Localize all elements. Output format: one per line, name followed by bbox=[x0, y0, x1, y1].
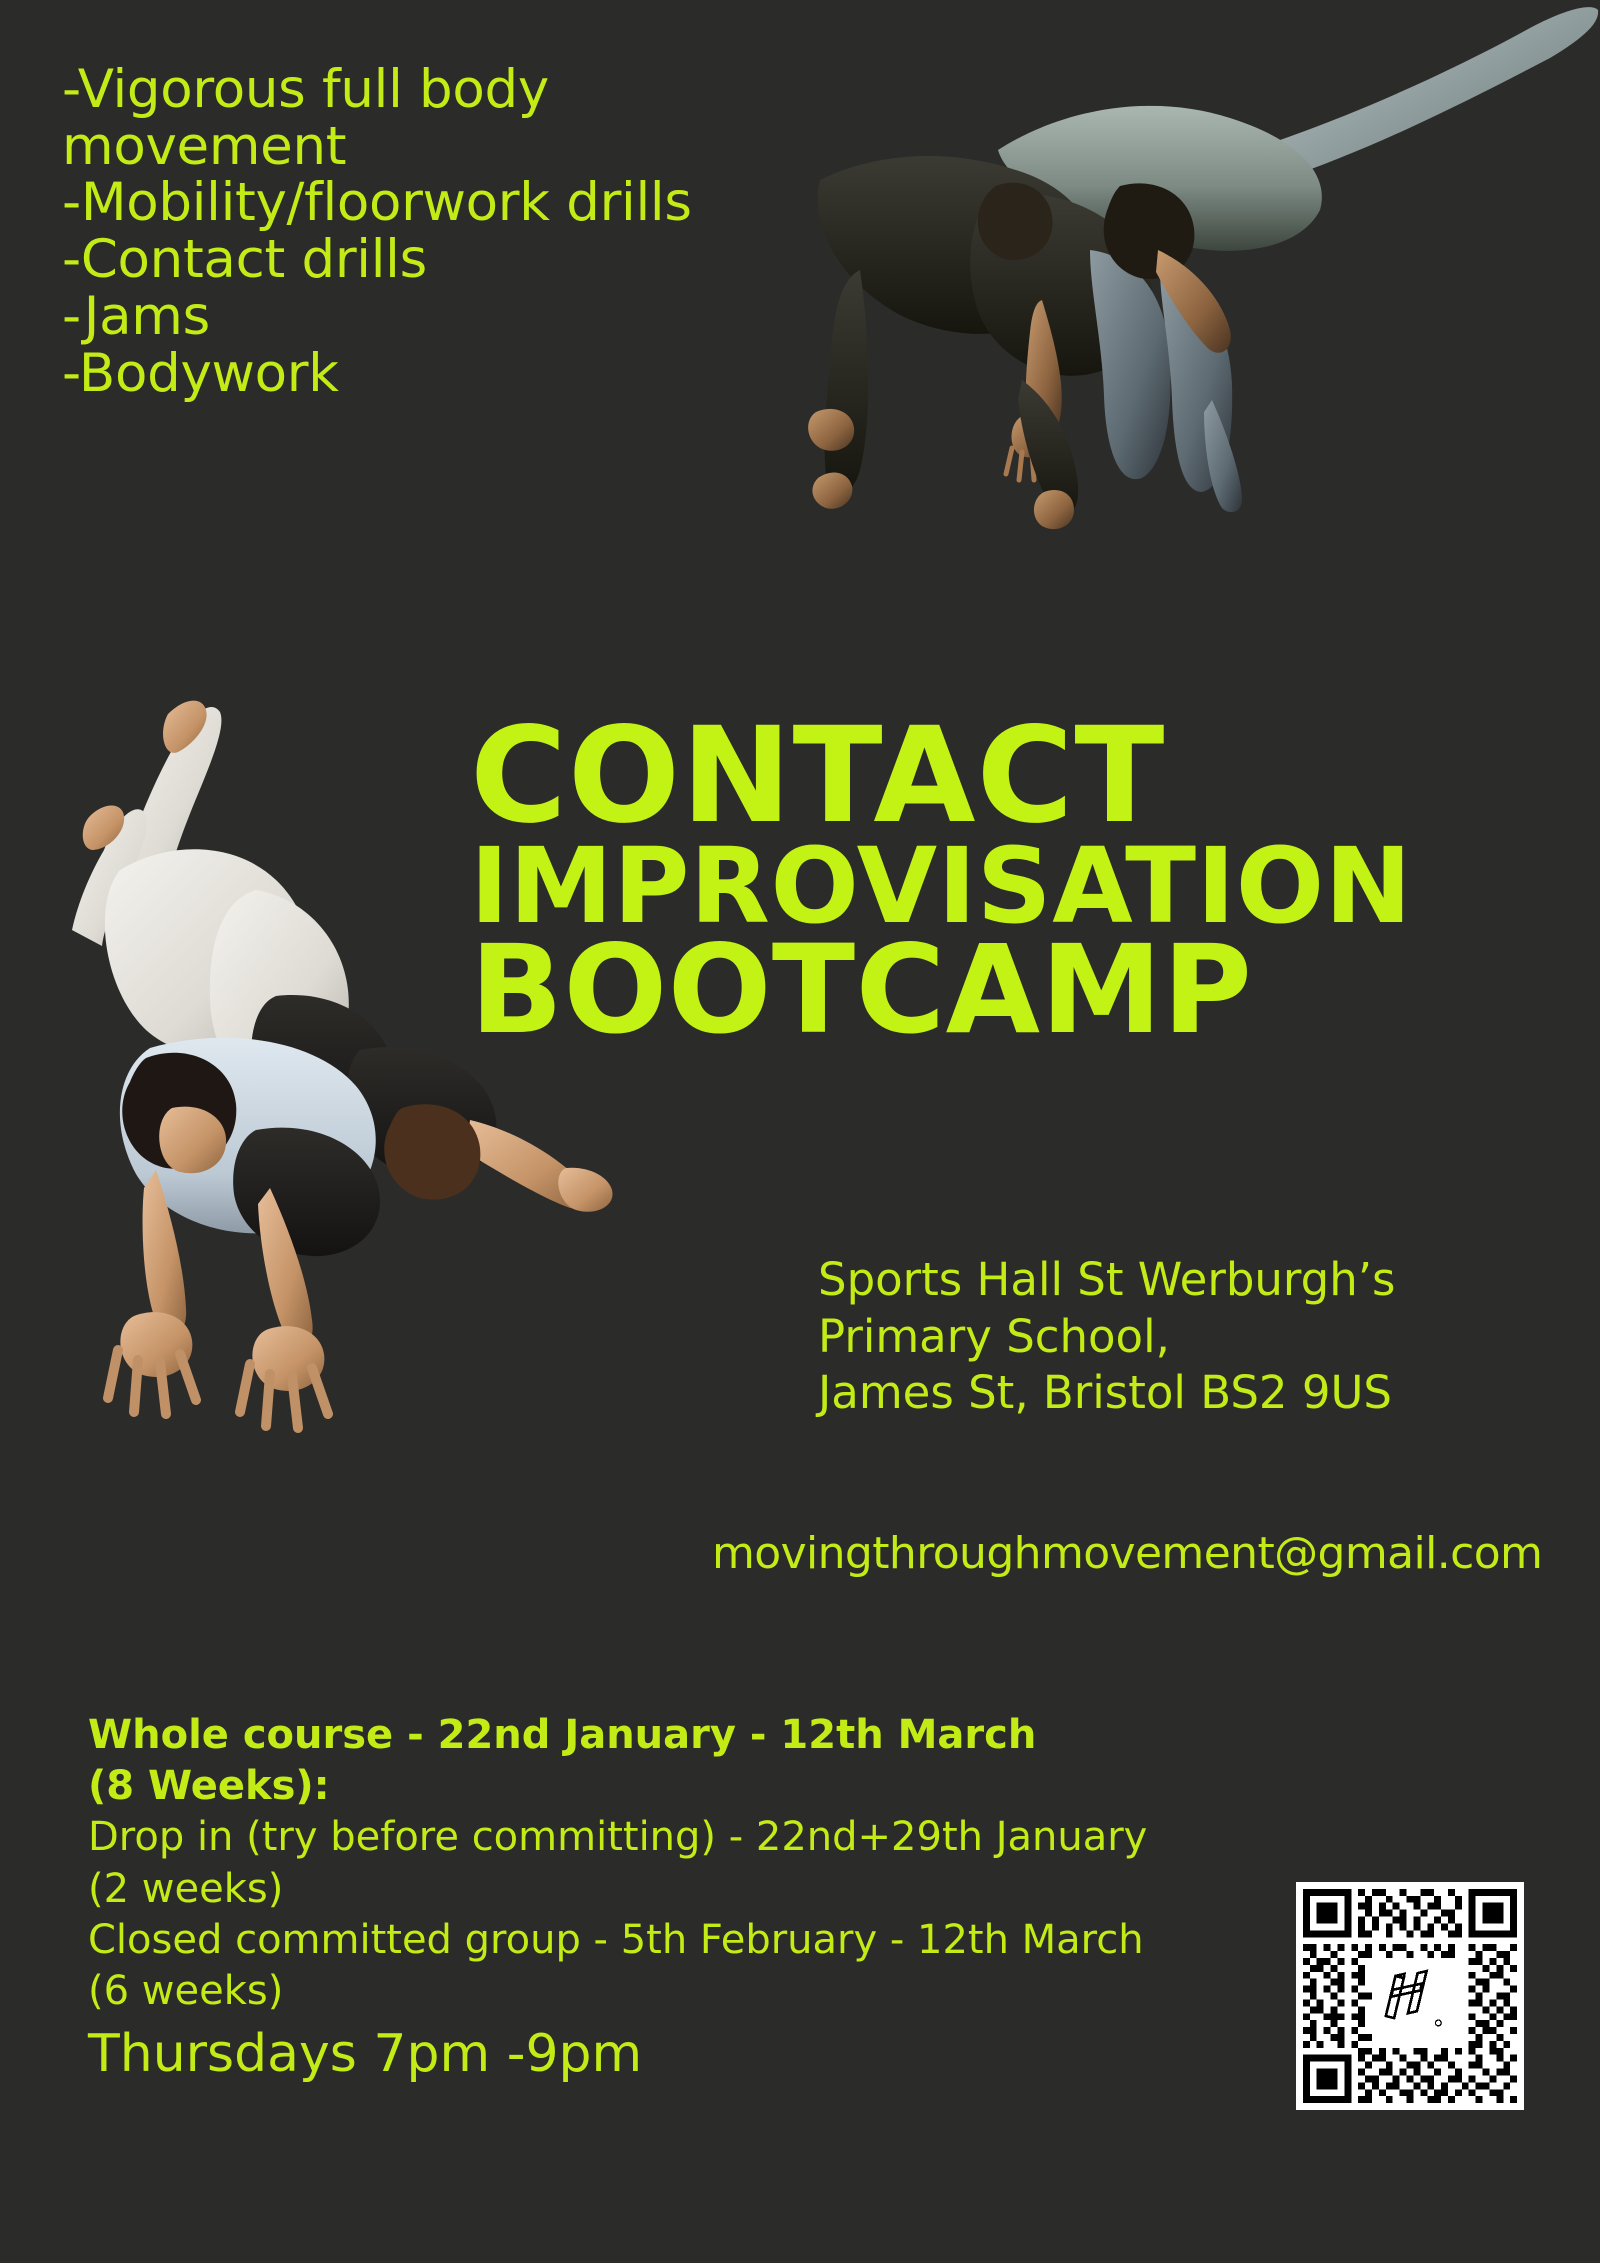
dancers-photo-top bbox=[760, 0, 1600, 730]
features-list: -Vigorous full body movement -Mobility/f… bbox=[62, 62, 882, 402]
qr-code[interactable] bbox=[1296, 1882, 1524, 2110]
schedule-time: Thursdays 7pm -9pm bbox=[88, 2023, 1268, 2086]
feature-item: -Contact drills bbox=[62, 232, 882, 289]
feature-item: movement bbox=[62, 119, 882, 176]
feature-item: -Vigorous full body bbox=[62, 62, 882, 119]
feature-item: -Mobility/floorwork drills bbox=[62, 175, 882, 232]
contact-email[interactable]: movingthroughmovement@gmail.com bbox=[712, 1528, 1542, 1579]
title-line-contact: CONTACT bbox=[470, 715, 1480, 838]
title-line-bootcamp: BOOTCAMP bbox=[470, 934, 1480, 1047]
schedule-drop-in-weeks: (2 weeks) bbox=[88, 1864, 1268, 1915]
venue-line-1: Sports Hall St Werburgh’s bbox=[818, 1252, 1538, 1309]
schedule-whole-course: Whole course - 22nd January - 12th March bbox=[88, 1710, 1268, 1761]
poster-canvas: -Vigorous full body movement -Mobility/f… bbox=[0, 0, 1600, 2263]
feature-item: -Bodywork bbox=[62, 346, 882, 403]
schedule-closed-group: Closed committed group - 5th February - … bbox=[88, 1915, 1268, 1966]
venue-address: Sports Hall St Werburgh’s Primary School… bbox=[818, 1252, 1538, 1422]
venue-line-3: James St, Bristol BS2 9US bbox=[818, 1365, 1538, 1422]
venue-line-2: Primary School, bbox=[818, 1309, 1538, 1366]
schedule-weeks-count: (8 Weeks): bbox=[88, 1761, 1268, 1812]
schedule-drop-in: Drop in (try before committing) - 22nd+2… bbox=[88, 1812, 1268, 1863]
schedule-block: Whole course - 22nd January - 12th March… bbox=[88, 1710, 1268, 2087]
poster-title: CONTACT IMPROVISATION BOOTCAMP bbox=[470, 715, 1480, 1048]
feature-item: -Jams bbox=[62, 289, 882, 346]
schedule-closed-group-weeks: (6 weeks) bbox=[88, 1966, 1268, 2017]
